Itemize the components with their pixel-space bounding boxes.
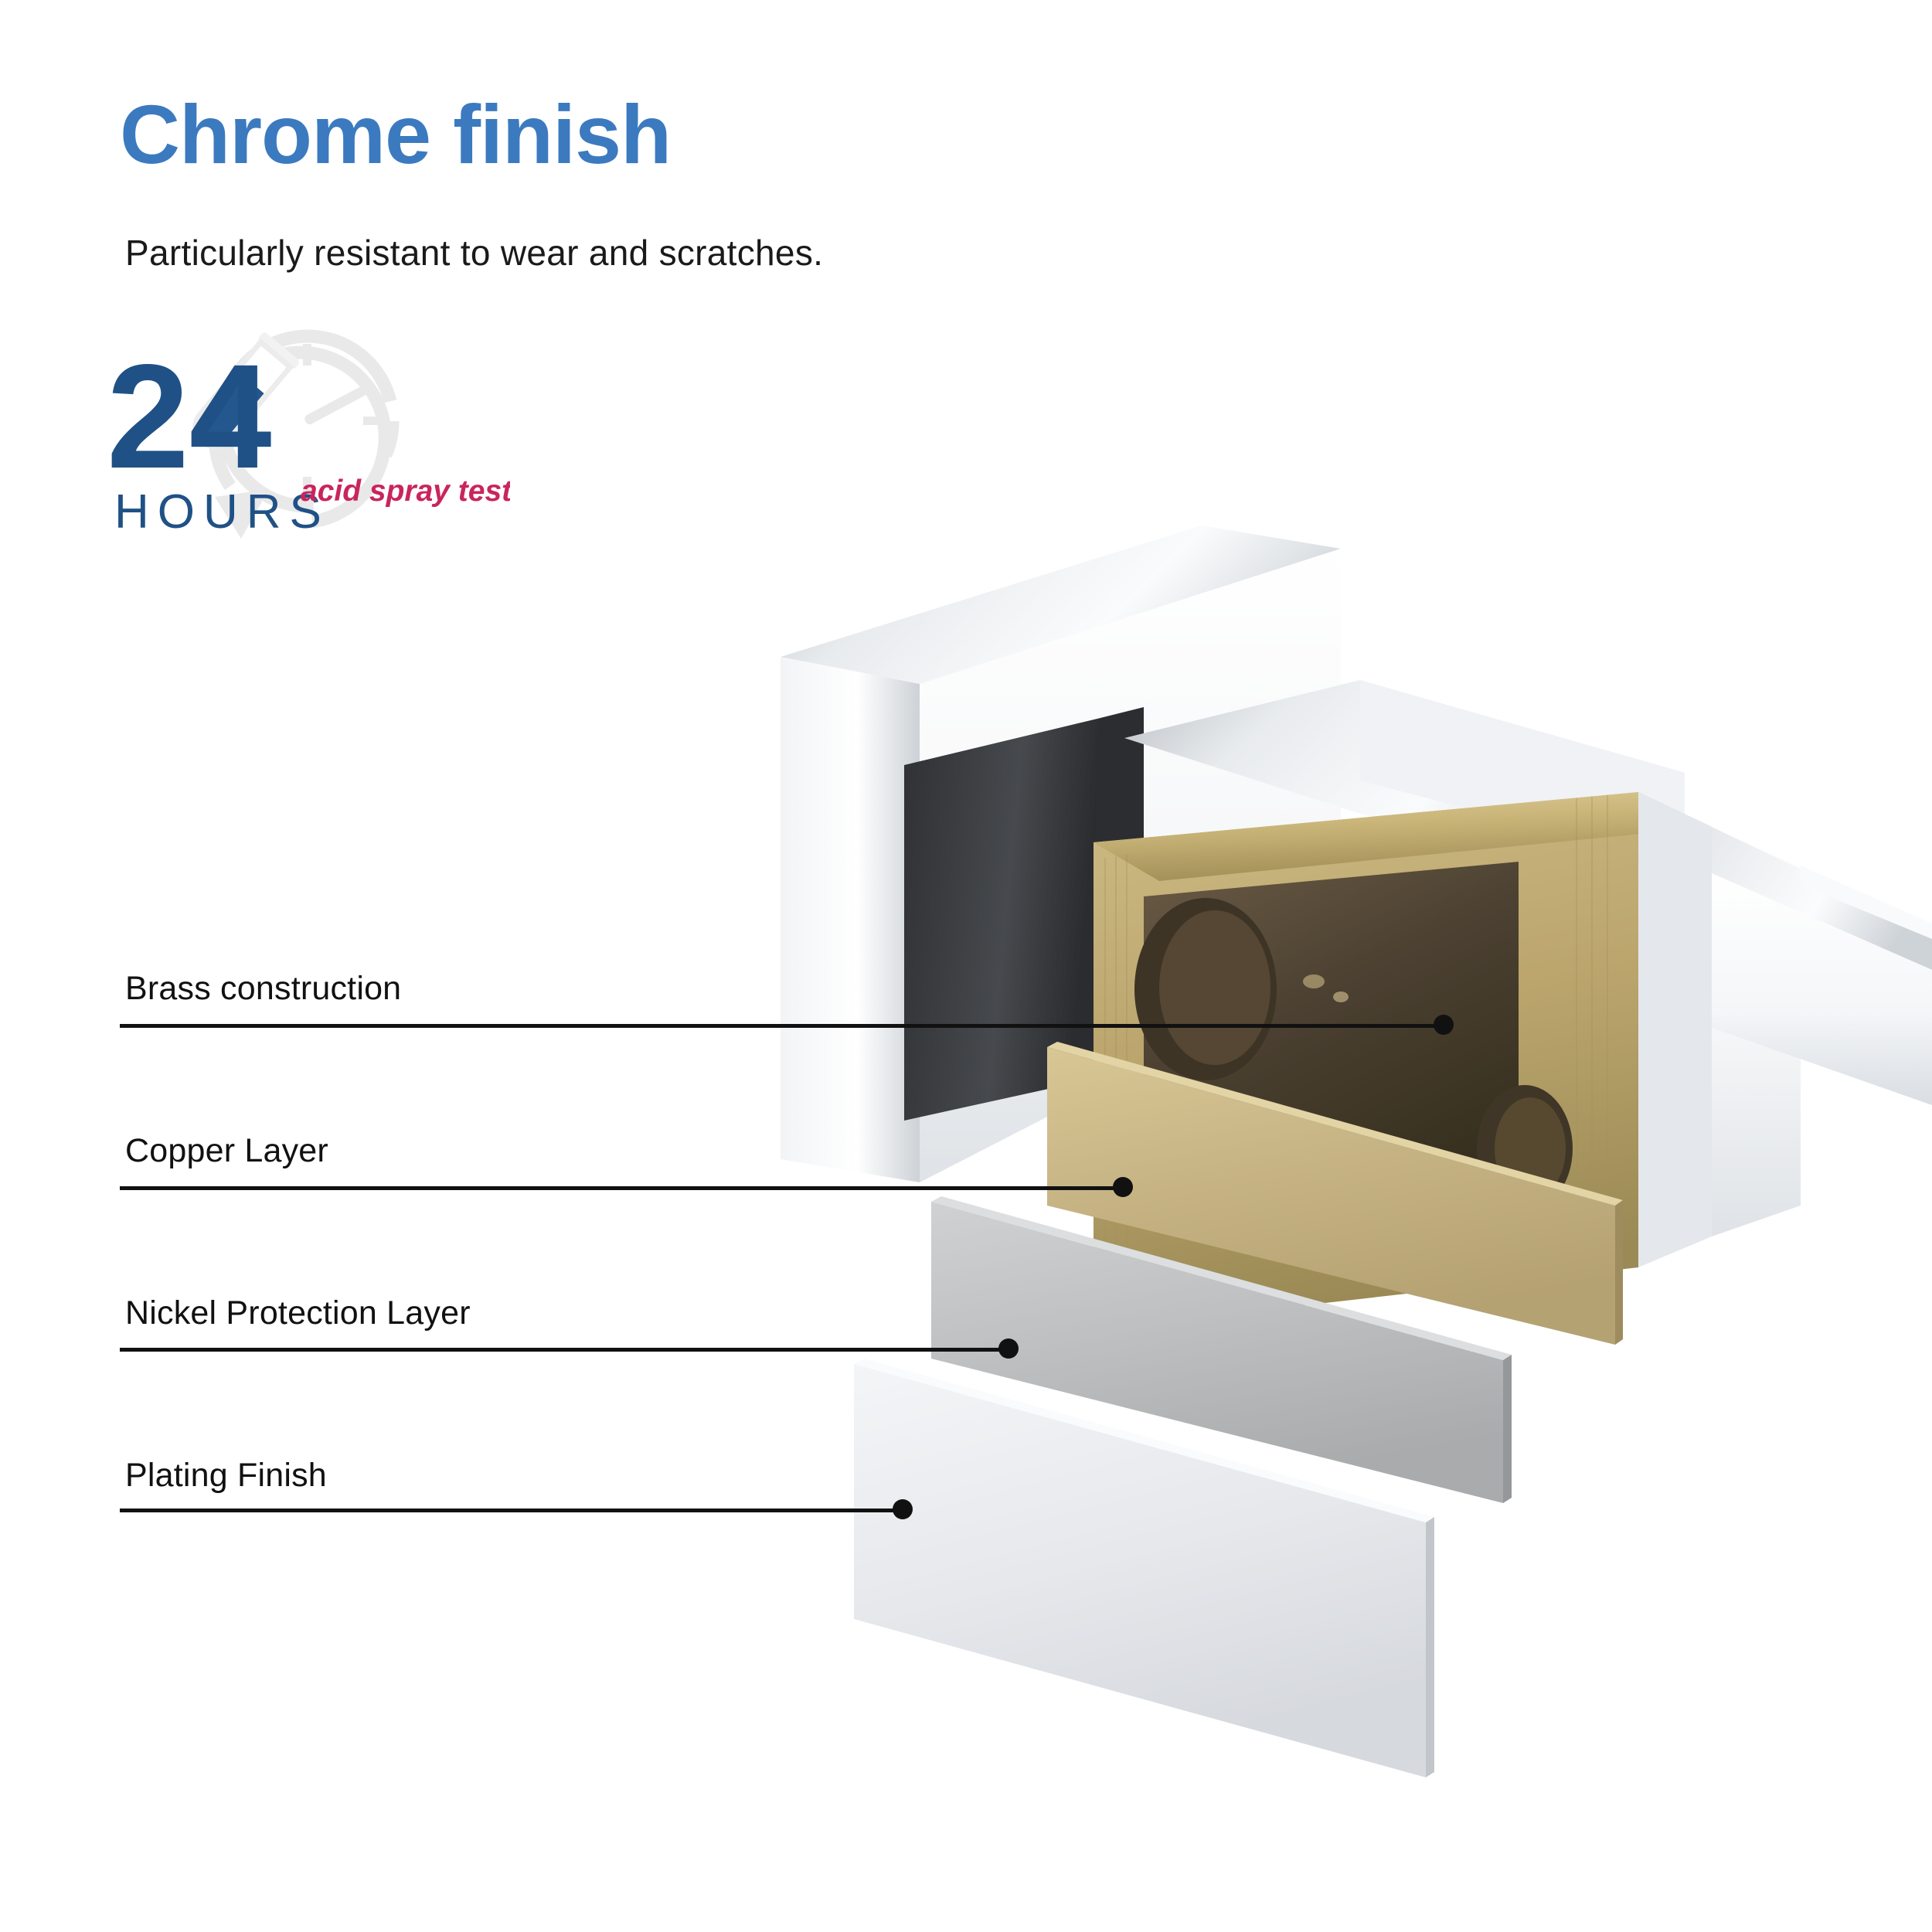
callout-leader-copper-layer (120, 1186, 1124, 1190)
callout-label-plating-finish: Plating Finish (125, 1457, 327, 1495)
callout-leader-brass-construction (120, 1024, 1445, 1028)
callout-label-copper-layer: Copper Layer (125, 1132, 328, 1170)
callout-dot-nickel-protection-layer (998, 1338, 1019, 1359)
infographic-page: Chrome finish Particularly resistant to … (0, 0, 1932, 1932)
callout-leader-plating-finish (120, 1509, 904, 1512)
callout-dot-plating-finish (893, 1499, 913, 1519)
callout-leader-nickel-protection-layer (120, 1348, 1010, 1352)
callout-label-nickel-protection-layer: Nickel Protection Layer (125, 1294, 471, 1332)
product-illustration (0, 0, 1932, 1932)
callout-label-brass-construction: Brass construction (125, 970, 401, 1008)
callout-dot-copper-layer (1113, 1177, 1133, 1197)
callout-dot-brass-construction (1434, 1015, 1454, 1035)
